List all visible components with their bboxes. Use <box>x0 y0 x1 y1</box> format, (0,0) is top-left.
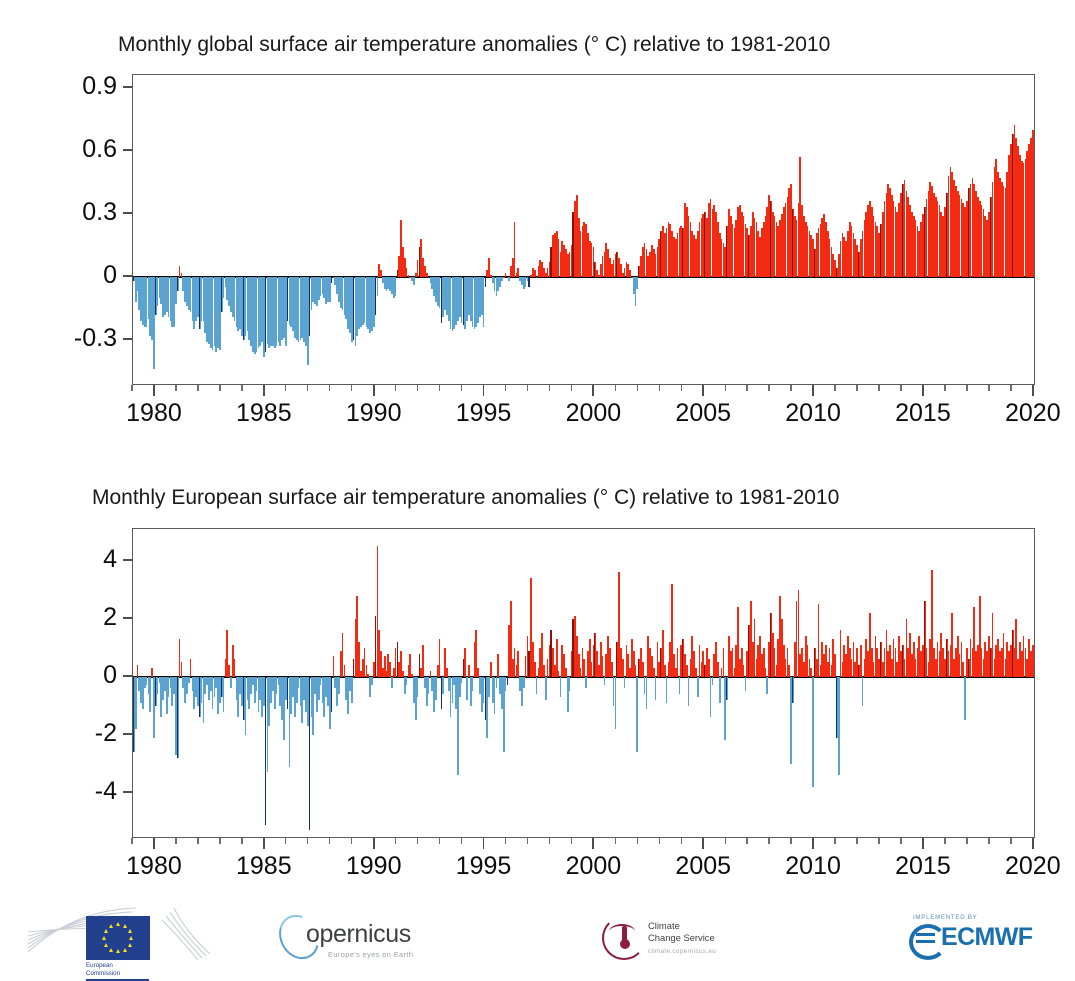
chart-global: Monthly global surface air temperature a… <box>0 0 1075 440</box>
x-tick-minor <box>768 385 769 391</box>
bar-negative <box>646 677 648 709</box>
x-tick-label: 1985 <box>214 401 314 426</box>
x-tick-label: 2015 <box>873 401 973 426</box>
eu-star <box>104 943 108 947</box>
x-tick-minor <box>527 385 528 391</box>
x-tick-minor <box>549 838 550 844</box>
bar-negative <box>964 677 966 720</box>
x-tick-minor <box>659 838 660 844</box>
x-tick-minor <box>988 385 989 391</box>
bar-positive <box>234 659 236 676</box>
footer-logos: European Commission opernicus Europe's e… <box>0 896 1075 981</box>
x-tick-minor <box>417 385 418 391</box>
x-tick-label: 1990 <box>324 854 424 879</box>
y-tick-mark <box>123 275 132 277</box>
x-tick-minor <box>219 838 220 844</box>
x-tick-minor <box>659 385 660 391</box>
european-commission-logo: European Commission <box>14 904 214 968</box>
bar-negative <box>615 677 617 729</box>
bar-positive <box>490 662 492 676</box>
chart-global-title: Monthly global surface air temperature a… <box>118 33 830 57</box>
x-tick-mark <box>373 838 375 849</box>
x-tick-mark <box>922 385 924 396</box>
bar-positive <box>686 665 688 677</box>
bar-positive <box>622 659 624 676</box>
x-tick-minor <box>241 838 242 844</box>
bar-negative <box>461 677 463 683</box>
bar-positive <box>137 665 139 677</box>
bar-negative <box>488 677 490 697</box>
x-tick-mark <box>702 838 704 849</box>
x-tick-mark <box>922 838 924 849</box>
bar-positive <box>642 662 644 676</box>
bar-positive <box>708 659 710 676</box>
bar-positive <box>536 277 538 278</box>
bar-positive <box>517 651 519 677</box>
bar-positive <box>181 662 183 676</box>
bar-negative <box>862 677 864 706</box>
bar-positive <box>788 665 790 677</box>
eu-star <box>116 922 120 926</box>
x-tick-minor <box>725 838 726 844</box>
y-tick-label: 0.9 <box>7 74 117 99</box>
x-tick-minor <box>571 385 572 391</box>
chart-global-plot-area <box>132 74 1035 385</box>
x-tick-mark <box>263 838 265 849</box>
bar-negative <box>472 677 474 691</box>
x-tick-label: 1980 <box>104 401 204 426</box>
bar-january-marker-cold <box>331 677 332 712</box>
x-tick-label: 2020 <box>983 854 1075 879</box>
c3s-name-line2: Change Service <box>648 932 715 944</box>
x-tick-label: 1995 <box>434 854 534 879</box>
bar-negative <box>435 677 437 700</box>
x-tick-minor <box>505 385 506 391</box>
x-tick-minor <box>571 838 572 844</box>
y-tick-mark <box>123 212 132 214</box>
ecmwf-logo: IMPLEMENTED BY ECMWF <box>905 914 1055 960</box>
x-tick-minor <box>527 838 528 844</box>
bar-january-marker-cold <box>331 277 332 283</box>
x-tick-minor <box>351 385 352 391</box>
bar-negative <box>712 677 714 686</box>
x-tick-minor <box>746 838 747 844</box>
bar-negative <box>391 677 393 689</box>
x-tick-mark <box>483 385 485 396</box>
bar-positive <box>765 668 767 677</box>
ec-caption-line2: Commission <box>86 970 120 978</box>
x-tick-minor <box>856 385 857 391</box>
x-tick-minor <box>461 385 462 391</box>
bar-positive <box>468 665 470 677</box>
eu-star <box>123 924 127 928</box>
x-tick-minor <box>966 385 967 391</box>
bar-positive <box>190 659 192 676</box>
x-tick-label: 2010 <box>763 401 863 426</box>
bar-negative <box>812 677 814 787</box>
x-tick-minor <box>307 838 308 844</box>
bar-negative <box>351 677 353 703</box>
x-tick-minor <box>615 385 616 391</box>
bar-negative <box>679 677 681 694</box>
y-tick-label: -0.3 <box>7 326 117 351</box>
eu-star <box>129 936 133 940</box>
ecmwf-bar-top <box>916 933 935 936</box>
bar-negative <box>428 677 430 694</box>
bar-negative <box>523 677 525 689</box>
bar-negative <box>719 677 721 703</box>
x-tick-label: 2020 <box>983 401 1075 426</box>
bar-positive <box>439 639 441 677</box>
bar-positive <box>653 668 655 677</box>
x-tick-minor <box>878 838 879 844</box>
x-tick-label: 2005 <box>653 854 753 879</box>
bar-positive <box>717 662 719 676</box>
bar-positive <box>743 665 745 677</box>
x-tick-mark <box>702 385 704 396</box>
x-tick-minor <box>439 838 440 844</box>
y-tick-label: 4 <box>7 547 117 572</box>
y-tick-label: 0.3 <box>7 200 117 225</box>
bar-january-marker-cold <box>485 277 486 288</box>
x-tick-minor <box>834 838 835 844</box>
x-tick-minor <box>1010 385 1011 391</box>
eu-star <box>109 924 113 928</box>
bar-negative <box>745 677 747 691</box>
x-tick-minor <box>637 838 638 844</box>
bar-positive <box>543 665 545 677</box>
bar-positive <box>464 648 466 677</box>
bar-positive <box>834 654 836 677</box>
bar-positive <box>611 662 613 676</box>
bar-negative <box>406 677 408 686</box>
x-tick-mark <box>812 838 814 849</box>
bar-negative <box>536 677 538 694</box>
x-tick-label: 2000 <box>543 401 643 426</box>
bar-positive <box>228 665 230 677</box>
bar-positive <box>602 656 604 676</box>
x-tick-mark <box>373 385 375 396</box>
x-tick-minor <box>197 385 198 391</box>
climate-change-service-logo: Climate Change Service climate.copernicu… <box>600 912 760 964</box>
ecmwf-bar-bottom <box>916 940 935 943</box>
bar-negative <box>188 677 190 683</box>
bar-negative <box>655 677 657 700</box>
y-tick-mark <box>123 617 132 619</box>
bar-negative <box>338 677 340 694</box>
bar-january-marker-cold <box>726 677 727 700</box>
eu-star <box>123 948 127 952</box>
eu-star <box>102 936 106 940</box>
bar-negative <box>569 677 571 691</box>
chart-european: Monthly European surface air temperature… <box>0 460 1075 900</box>
bar-negative <box>466 677 468 700</box>
bar-negative <box>604 677 606 686</box>
x-tick-minor <box>131 838 132 844</box>
x-tick-minor <box>790 838 791 844</box>
ecmwf-eyebrow: IMPLEMENTED BY <box>913 914 977 921</box>
copernicus-tagline: Europe's eyes on Earth <box>328 950 413 959</box>
x-tick-minor <box>790 385 791 391</box>
x-tick-minor <box>900 385 901 391</box>
bar-positive <box>723 648 725 677</box>
bar-positive <box>477 668 479 677</box>
x-tick-minor <box>505 838 506 844</box>
bar-positive <box>333 656 335 676</box>
y-tick-mark <box>123 733 132 735</box>
x-tick-minor <box>395 385 396 391</box>
bar-positive <box>565 668 567 677</box>
x-tick-minor <box>549 385 550 391</box>
bar-negative <box>585 677 587 689</box>
x-tick-minor <box>746 385 747 391</box>
x-tick-mark <box>1032 838 1034 849</box>
bar-positive <box>695 668 697 677</box>
bar-negative <box>508 277 510 281</box>
x-tick-minor <box>417 838 418 844</box>
ecmwf-mark-icon <box>909 924 939 952</box>
bar-positive <box>664 665 666 677</box>
x-tick-minor <box>351 838 352 844</box>
bar-negative <box>697 677 699 697</box>
x-tick-minor <box>461 838 462 844</box>
bar-positive <box>860 645 862 677</box>
x-tick-minor <box>856 838 857 844</box>
chart-european-plot-area <box>132 528 1035 838</box>
x-tick-mark <box>483 838 485 849</box>
bar-negative <box>442 677 444 694</box>
eu-star <box>128 943 132 947</box>
x-tick-minor <box>439 385 440 391</box>
bar-negative <box>545 677 547 700</box>
bar-negative <box>149 677 151 712</box>
bar-negative <box>230 677 232 689</box>
x-tick-minor <box>285 838 286 844</box>
x-tick-label: 1990 <box>324 401 424 426</box>
bar-negative <box>666 677 668 703</box>
bar-positive <box>635 665 637 677</box>
eu-flag <box>86 916 150 960</box>
y-tick-mark <box>123 149 132 151</box>
c3s-name-line1: Climate <box>648 920 715 932</box>
x-tick-minor <box>131 385 132 391</box>
x-tick-mark <box>592 838 594 849</box>
y-tick-mark <box>123 559 132 561</box>
bar-january-marker-cold <box>177 277 178 292</box>
x-tick-label: 2000 <box>543 854 643 879</box>
chart-european-title: Monthly European surface air temperature… <box>92 486 839 510</box>
ec-caption: European Commission <box>86 962 120 977</box>
x-tick-minor <box>175 838 176 844</box>
x-tick-minor <box>241 385 242 391</box>
c3s-name: Climate Change Service <box>648 920 715 944</box>
x-tick-minor <box>768 838 769 844</box>
x-tick-label: 2015 <box>873 854 973 879</box>
bar-january-marker-cold <box>528 277 529 288</box>
bar-positive <box>677 648 679 677</box>
bar-negative <box>135 677 137 729</box>
x-tick-mark <box>263 385 265 396</box>
eu-star <box>104 929 108 933</box>
bar-negative <box>636 277 638 290</box>
bar-negative <box>377 277 379 296</box>
bar-january-marker-cold <box>792 677 793 703</box>
bar-positive <box>534 662 536 676</box>
x-tick-minor <box>900 838 901 844</box>
copernicus-logo: opernicus Europe's eyes on Earth <box>280 914 425 966</box>
x-tick-label: 1985 <box>214 854 314 879</box>
bar-positive <box>422 645 424 677</box>
x-tick-minor <box>725 385 726 391</box>
copernicus-wordmark: opernicus <box>306 920 411 949</box>
x-tick-minor <box>175 385 176 391</box>
y-tick-label: 0.6 <box>7 137 117 162</box>
x-tick-minor <box>944 838 945 844</box>
bar-negative <box>560 677 562 697</box>
x-tick-minor <box>1010 838 1011 844</box>
y-tick-mark <box>123 791 132 793</box>
bar-negative <box>838 677 840 776</box>
bar-negative <box>688 677 690 706</box>
y-tick-label: 2 <box>7 605 117 630</box>
x-tick-minor <box>307 385 308 391</box>
eu-star <box>116 949 120 953</box>
c3s-url: climate.copernicus.eu <box>648 948 716 955</box>
x-tick-minor <box>878 385 879 391</box>
x-tick-mark <box>153 385 155 396</box>
ecmwf-wordmark: ECMWF <box>941 923 1032 952</box>
bar-positive <box>514 222 516 277</box>
y-tick-label: 0 <box>7 663 117 688</box>
x-tick-minor <box>615 838 616 844</box>
bar-negative <box>496 677 498 689</box>
bar-negative <box>395 277 397 296</box>
bar-positive <box>517 268 519 276</box>
bar-positive <box>962 662 964 676</box>
x-tick-minor <box>988 838 989 844</box>
bar-january-marker-cold <box>177 677 178 758</box>
thermometer-bulb-icon <box>620 939 630 949</box>
bar-positive <box>503 277 505 278</box>
x-tick-minor <box>637 385 638 391</box>
x-tick-mark <box>153 838 155 849</box>
eu-star <box>109 948 113 952</box>
x-tick-mark <box>812 385 814 396</box>
bar-negative <box>223 677 225 712</box>
x-tick-label: 1980 <box>104 854 204 879</box>
x-tick-label: 1995 <box>434 401 534 426</box>
bar-positive <box>389 662 391 676</box>
x-tick-minor <box>681 838 682 844</box>
x-tick-minor <box>329 838 330 844</box>
bar-january-marker-cold <box>507 677 508 686</box>
bar-negative <box>413 277 415 285</box>
x-tick-minor <box>681 385 682 391</box>
bar-negative <box>636 677 638 752</box>
x-tick-minor <box>197 838 198 844</box>
y-tick-label: -2 <box>7 721 117 746</box>
y-tick-label: -4 <box>7 779 117 804</box>
y-tick-mark <box>123 86 132 88</box>
bar-positive <box>344 665 346 677</box>
bar-positive <box>810 668 812 677</box>
x-tick-mark <box>1032 385 1034 396</box>
x-tick-minor <box>395 838 396 844</box>
x-tick-mark <box>592 385 594 396</box>
bar-positive <box>151 668 153 677</box>
bar-negative <box>371 677 373 686</box>
bar-negative <box>624 677 626 689</box>
x-tick-label: 2005 <box>653 401 753 426</box>
x-tick-minor <box>966 838 967 844</box>
bar-negative <box>417 677 419 697</box>
bar-negative <box>766 677 768 694</box>
x-tick-minor <box>834 385 835 391</box>
y-tick-mark <box>123 675 132 677</box>
ec-caption-line1: European <box>86 962 120 970</box>
x-tick-minor <box>219 385 220 391</box>
bar-positive <box>583 659 585 676</box>
figure-root: Monthly global surface air temperature a… <box>0 0 1075 981</box>
eu-star <box>128 929 132 933</box>
x-tick-label: 2010 <box>763 854 863 879</box>
bar-positive <box>497 654 499 677</box>
bar-positive <box>446 668 448 677</box>
x-tick-minor <box>329 385 330 391</box>
y-tick-mark <box>123 338 132 340</box>
y-tick-label: 0 <box>7 263 117 288</box>
x-tick-minor <box>285 385 286 391</box>
x-tick-minor <box>944 385 945 391</box>
